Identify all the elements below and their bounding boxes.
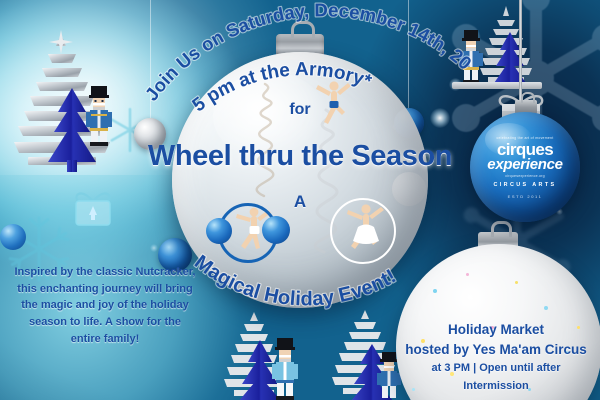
description-text: Inspired by the classic Nutcracker, this… (14, 264, 196, 348)
center-ornament (172, 52, 428, 308)
article-a: A (0, 192, 600, 212)
blue-ornament-ball (0, 224, 26, 250)
ornament-thread (408, 0, 409, 108)
blue-ornament-ball (206, 218, 232, 244)
market-line-4: Intermission (398, 378, 594, 395)
for-word: for (0, 101, 600, 119)
market-line-3: at 3 PM | Open until after (398, 360, 594, 377)
blue-ornament-ball (262, 216, 290, 244)
holiday-market-block: Holiday Market hosted by Yes Ma'am Circu… (398, 320, 594, 394)
logo-subtitle: CIRCUS ARTS (470, 182, 580, 188)
logo-url: cirquesexperience.org (470, 174, 580, 178)
market-line-1: Holiday Market (398, 320, 594, 340)
market-line-2: hosted by Yes Ma'am Circus (398, 340, 594, 360)
poster-title: Wheel thru the Season (0, 140, 600, 173)
event-poster: celebrating the art of movement cirques … (0, 0, 600, 400)
